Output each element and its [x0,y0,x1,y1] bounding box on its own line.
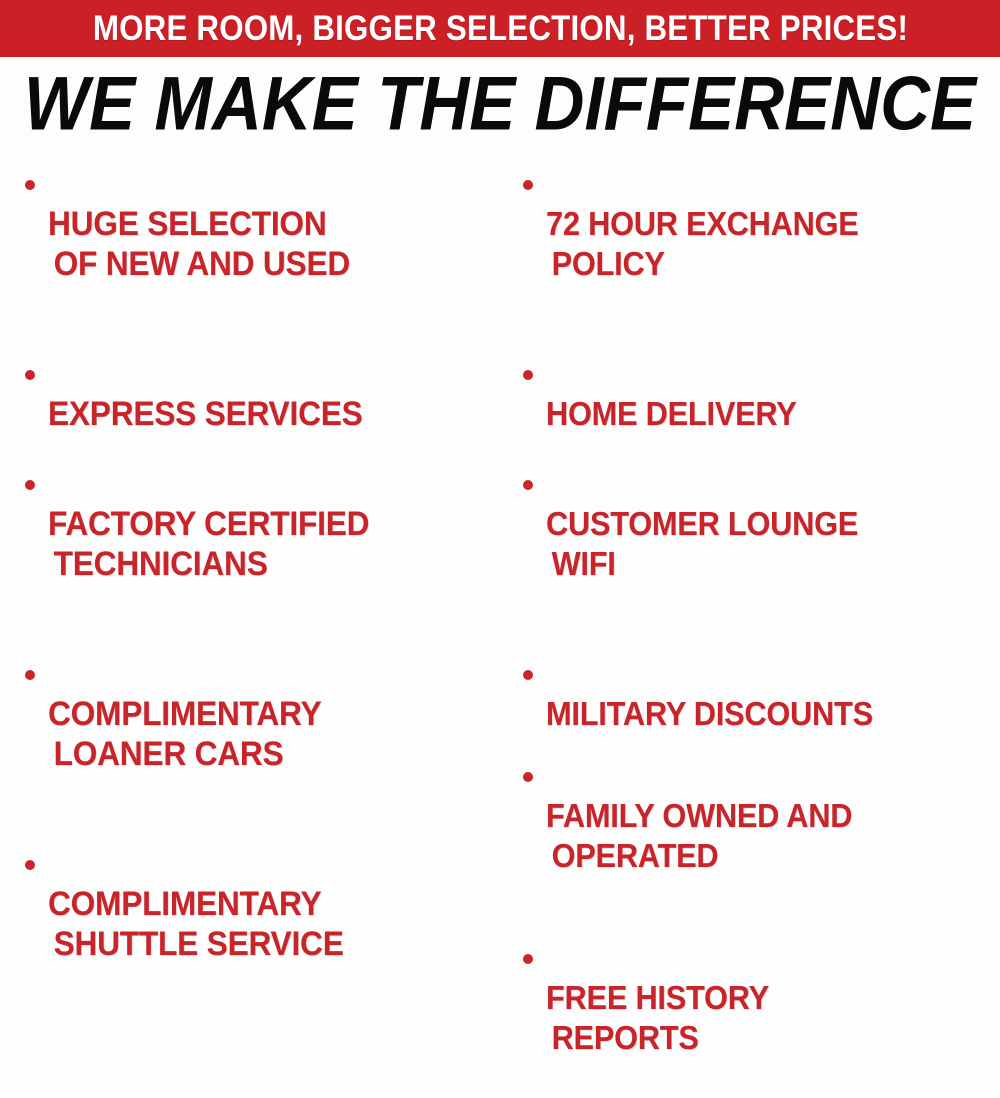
list-item-line-2: WIFI [546,544,968,584]
list-item-line-2: OF NEW AND USED [48,244,468,284]
banner-headline-text: MORE ROOM, BIGGER SELECTION, BETTER PRIC… [92,11,907,46]
list-item-line-2: REPORTS [546,1018,968,1058]
benefits-columns: HUGE SELECTION OF NEW AND USED EXPRESS S… [0,156,1000,694]
list-item-line-1: FACTORY CERTIFIED [48,504,369,544]
list-item-line-2: SHUTTLE SERVICE [48,924,468,964]
list-item: MILITARY DISCOUNTS [512,654,1000,734]
benefits-column-right: 72 HOUR EXCHANGE POLICY HOME DELIVERY CU… [512,156,1000,694]
list-item: COMPLIMENTARY SHUTTLE SERVICE [14,844,500,1004]
top-banner: MORE ROOM, BIGGER SELECTION, BETTER PRIC… [0,0,1000,57]
list-item-line-1: HOME DELIVERY [546,394,797,434]
list-item: COMPLIMENTARY LOANER CARS [14,654,500,814]
promo-poster: MORE ROOM, BIGGER SELECTION, BETTER PRIC… [0,0,1000,694]
list-item-line-1: COMPLIMENTARY [48,694,321,734]
list-item-line-2: TECHNICIANS [48,544,468,584]
list-item-line-1: COMPLIMENTARY [48,884,321,924]
list-item: FREE HISTORY REPORTS [512,938,1000,1098]
page-title: WE MAKE THE DIFFERENCE [24,64,976,145]
list-item-line-1: FREE HISTORY [546,978,769,1018]
list-item-line-1: MILITARY DISCOUNTS [546,694,873,734]
list-item-line-1: 72 HOUR EXCHANGE [546,204,859,244]
list-item: FAMILY OWNED AND OPERATED [512,756,1000,916]
list-item-line-2: LOANER CARS [48,734,468,774]
list-item: EXPRESS SERVICES [14,354,500,434]
list-item: HUGE SELECTION OF NEW AND USED [14,164,500,324]
list-item-line-1: EXPRESS SERVICES [48,394,363,434]
list-item-line-2: OPERATED [546,836,968,876]
list-item: FACTORY CERTIFIED TECHNICIANS [14,464,500,624]
list-item: CUSTOMER LOUNGE WIFI [512,464,1000,624]
list-item-line-1: CUSTOMER LOUNGE [546,504,858,544]
list-item: HOME DELIVERY [512,354,1000,434]
list-item-line-2: POLICY [546,244,968,284]
headline-container: WE MAKE THE DIFFERENCE [0,62,1000,146]
benefits-column-left: HUGE SELECTION OF NEW AND USED EXPRESS S… [14,156,500,694]
list-item-line-1: FAMILY OWNED AND [546,796,852,836]
list-item-line-1: HUGE SELECTION [48,204,326,244]
list-item: 72 HOUR EXCHANGE POLICY [512,164,1000,324]
